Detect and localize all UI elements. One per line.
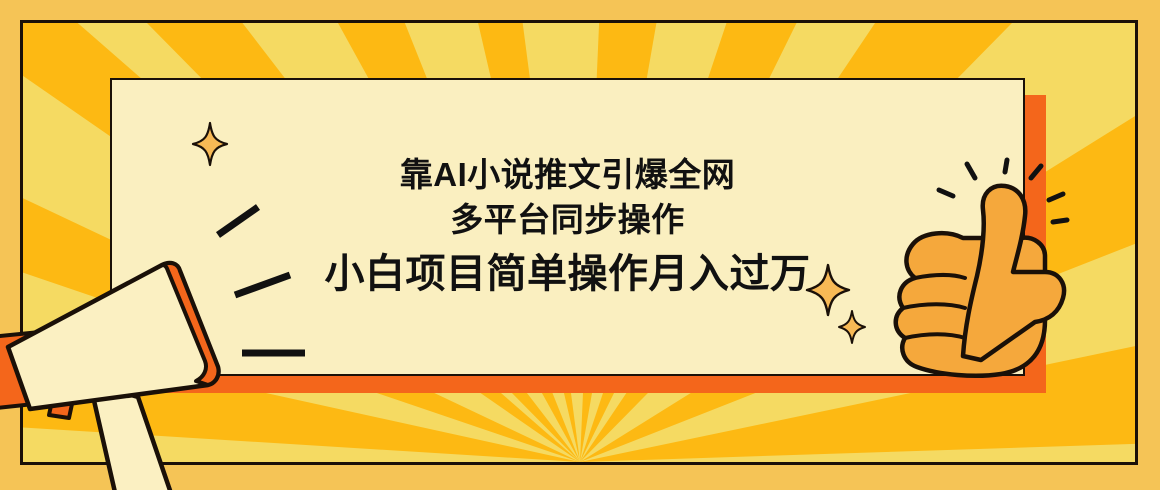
thumbs-up-illustration bbox=[855, 160, 1075, 395]
megaphone-illustration bbox=[0, 205, 310, 490]
sparkle-top-left-icon bbox=[192, 122, 228, 166]
promo-poster: 靠AI小说推文引爆全网 多平台同步操作 小白项目简单操作月入过万 bbox=[0, 0, 1160, 490]
sparkle-large-icon bbox=[806, 264, 850, 316]
